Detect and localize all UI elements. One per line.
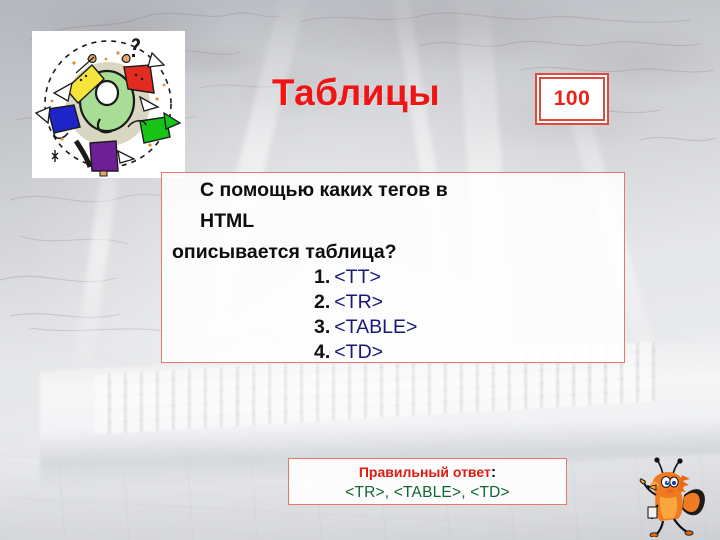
question-text: С помощью каких тегов в HTML описывается… bbox=[172, 175, 572, 268]
question-line-1: С помощью каких тегов в bbox=[172, 175, 572, 206]
option-label: <TR> bbox=[334, 291, 383, 313]
correct-answer-panel: Правильный ответ: <TR>, <TABLE>, <TD> bbox=[288, 458, 567, 505]
answer-option[interactable]: 2.<TR> bbox=[314, 290, 417, 315]
option-label: <TABLE> bbox=[334, 316, 417, 338]
correct-answer-value: <TR>, <TABLE>, <TD> bbox=[289, 482, 566, 503]
score-value: 100 bbox=[554, 87, 591, 111]
answer-option[interactable]: 3.<TABLE> bbox=[314, 315, 417, 340]
people-around-circle-clipart bbox=[32, 31, 185, 178]
option-number: 4. bbox=[314, 341, 330, 363]
fox-mascot-icon bbox=[634, 455, 708, 537]
question-line-2: HTML bbox=[172, 206, 572, 237]
option-number: 2. bbox=[314, 291, 330, 313]
correct-answer-colon: : bbox=[491, 464, 496, 481]
option-number: 1. bbox=[314, 266, 330, 288]
question-panel: С помощью каких тегов в HTML описывается… bbox=[161, 172, 625, 363]
option-label: <TT> bbox=[334, 266, 381, 288]
quiz-slide: Таблицы 100 С помощью каких тегов в HTML… bbox=[0, 0, 720, 540]
correct-answer-label: Правильный ответ bbox=[359, 464, 491, 480]
answer-option[interactable]: 4.<TD> bbox=[314, 340, 417, 365]
option-number: 3. bbox=[314, 316, 330, 338]
score-badge: 100 bbox=[539, 77, 605, 121]
correct-answer-label-row: Правильный ответ: bbox=[289, 463, 566, 482]
answer-option[interactable]: 1.<TT> bbox=[314, 265, 417, 290]
question-line-3: описывается таблица? bbox=[172, 237, 572, 268]
option-label: <TD> bbox=[334, 341, 383, 363]
answer-options-list: 1.<TT> 2.<TR> 3.<TABLE> 4.<TD> bbox=[314, 265, 417, 365]
page-title: Таблицы bbox=[272, 72, 440, 114]
